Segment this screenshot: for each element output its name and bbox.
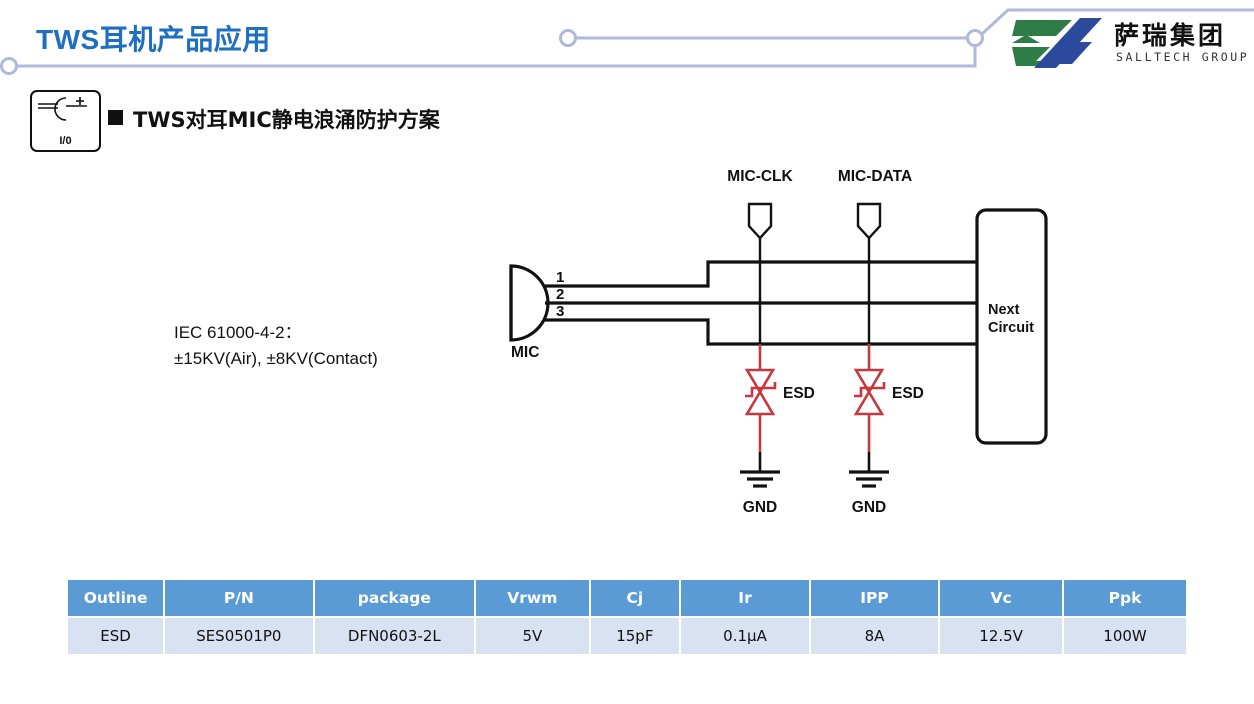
terminal-label-mic-clk: MIC-CLK [727, 168, 793, 185]
mic-label: MIC [511, 344, 539, 361]
pin-number-3: 3 [556, 303, 564, 320]
cell-ir: 0.1μA [681, 618, 809, 654]
terminal-flag-icon [749, 204, 771, 238]
esd-label-2: ESD [892, 385, 924, 402]
table-header-vrwm: Vrwm [476, 580, 588, 616]
cell-vc: 12.5V [940, 618, 1062, 654]
table-header-row: Outline P/N package Vrwm Cj Ir IPP Vc Pp… [68, 580, 1186, 616]
esd-device-2: ESD [854, 344, 924, 452]
ground-symbol-2: GND [849, 452, 889, 516]
terminal-mic-data: MIC-DATA [838, 168, 912, 344]
wire-pin1 [545, 262, 978, 286]
cell-vrwm: 5V [476, 618, 588, 654]
cell-cj: 15pF [591, 618, 680, 654]
gnd-label-1: GND [743, 499, 777, 516]
cell-outline: ESD [68, 618, 163, 654]
gnd-label-2: GND [852, 499, 886, 516]
table-header-pn: P/N [165, 580, 312, 616]
table-header-cj: Cj [591, 580, 680, 616]
table-row: ESD SES0501P0 DFN0603-2L 5V 15pF 0.1μA 8… [68, 618, 1186, 654]
circuit-diagram: 1 2 3 MIC MIC-CLK ESD GND MIC-DATA ESD [0, 0, 1254, 560]
mic-symbol [511, 266, 548, 340]
pin-number-2: 2 [556, 286, 564, 303]
next-circuit-line-1: Next [988, 302, 1020, 318]
terminal-label-mic-data: MIC-DATA [838, 168, 912, 185]
ground-symbol-1: GND [740, 452, 780, 516]
cell-pn: SES0501P0 [165, 618, 312, 654]
cell-ppk: 100W [1064, 618, 1186, 654]
wire-pin3 [545, 320, 978, 344]
table-header-ir: Ir [681, 580, 809, 616]
cell-package: DFN0603-2L [315, 618, 475, 654]
terminal-mic-clk: MIC-CLK [727, 168, 793, 344]
table-header-vc: Vc [940, 580, 1062, 616]
next-circuit-line-2: Circuit [988, 320, 1034, 336]
terminal-flag-icon [858, 204, 880, 238]
table-header-ppk: Ppk [1064, 580, 1186, 616]
pin-number-1: 1 [556, 269, 564, 286]
table-header-outline: Outline [68, 580, 163, 616]
next-circuit-block: Next Circuit [977, 210, 1046, 443]
esd-device-1: ESD [745, 344, 815, 452]
table-header-ipp: IPP [811, 580, 938, 616]
spec-table: Outline P/N package Vrwm Cj Ir IPP Vc Pp… [66, 578, 1188, 656]
cell-ipp: 8A [811, 618, 938, 654]
table-header-package: package [315, 580, 475, 616]
esd-label-1: ESD [783, 385, 815, 402]
